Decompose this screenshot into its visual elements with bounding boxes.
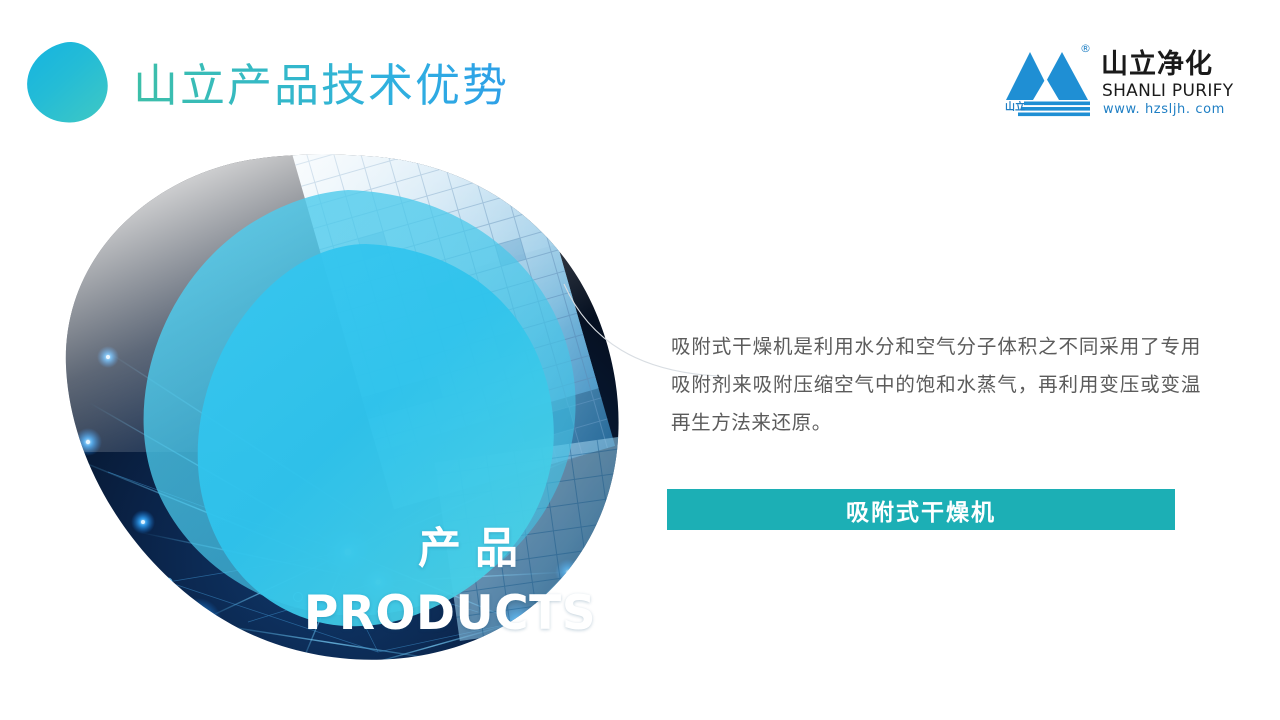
artwork-title-cn: 产品: [348, 524, 588, 574]
product-name-banner[interactable]: 吸附式干燥机: [667, 489, 1175, 530]
logo-company-name-en: SHANLI PURIFY: [1102, 82, 1233, 101]
slide-canvas: 山立产品技术优势 ® 山立 山立净化 SHANLI PURIFY www. hz…: [0, 0, 1280, 720]
logo-website-url: www. hzsljh. com: [1103, 102, 1225, 117]
header-decorative-blob-icon: [20, 36, 115, 131]
product-artwork: 产品 PRODUCTS: [48, 152, 638, 670]
product-name-label: 吸附式干燥机: [846, 493, 996, 527]
logo-mark-caption: 山立: [1005, 98, 1025, 113]
page-title: 山立产品技术优势: [133, 57, 509, 115]
company-logo: ® 山立 山立净化 SHANLI PURIFY www. hzsljh. com: [1004, 38, 1216, 120]
product-description: 吸附式干燥机是利用水分和空气分子体积之不同采用了专用吸附剂来吸附压缩空气中的饱和…: [671, 328, 1201, 442]
logo-company-name-cn: 山立净化: [1101, 50, 1213, 80]
registered-trademark-icon: ®: [1080, 42, 1091, 55]
artwork-title-en: PRODUCTS: [300, 584, 600, 644]
